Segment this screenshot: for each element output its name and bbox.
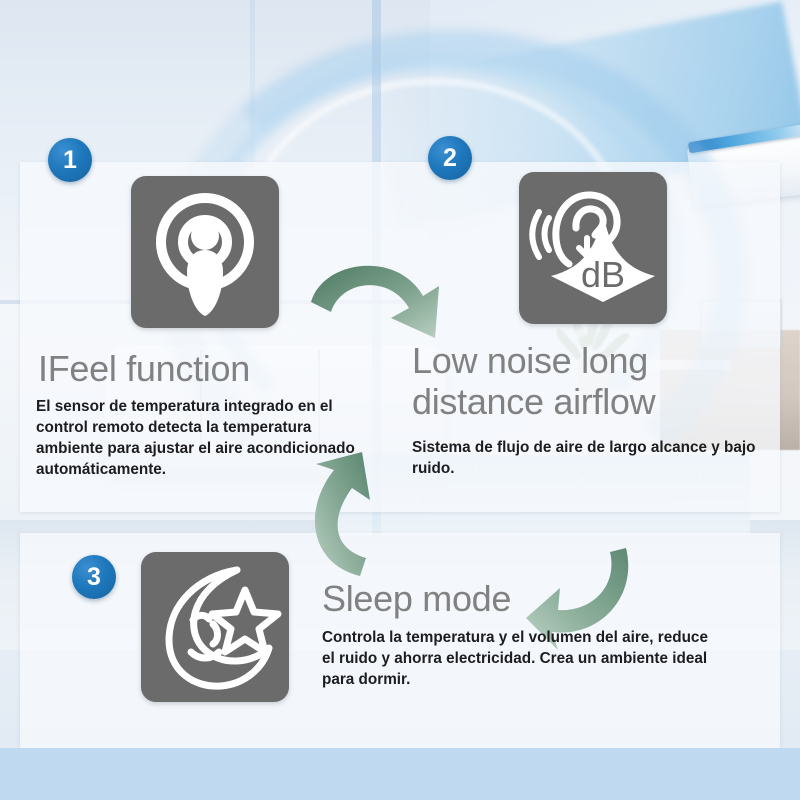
db-label: dB	[581, 254, 625, 295]
feature-badge-number: 2	[443, 146, 457, 171]
low-noise-db-ear-icon: dB	[519, 172, 667, 324]
feature-body-2: Sistema de flujo de aire de largo alcanc…	[412, 437, 762, 479]
ifeel-sensor-icon	[131, 176, 279, 328]
feature-heading-3: Sleep mode	[322, 578, 511, 619]
feature-badge-3: 3	[72, 555, 116, 599]
infographic-stage: 1 IFeel function El sensor de temperatur…	[0, 0, 800, 800]
feature-badge-1: 1	[48, 138, 92, 182]
feature-heading-2: Low noise long distance airflow	[412, 340, 655, 422]
feature-badge-number: 3	[87, 565, 101, 590]
feature-badge-number: 1	[63, 148, 77, 173]
bottom-color-band	[0, 748, 800, 800]
sleep-moon-star-icon	[141, 552, 289, 702]
feature-heading-1: IFeel function	[38, 348, 250, 389]
feature-body-3: Controla la temperatura y el volumen del…	[322, 627, 722, 690]
feature-badge-2: 2	[428, 136, 472, 180]
feature-body-1: El sensor de temperatura integrado en el…	[36, 396, 381, 480]
